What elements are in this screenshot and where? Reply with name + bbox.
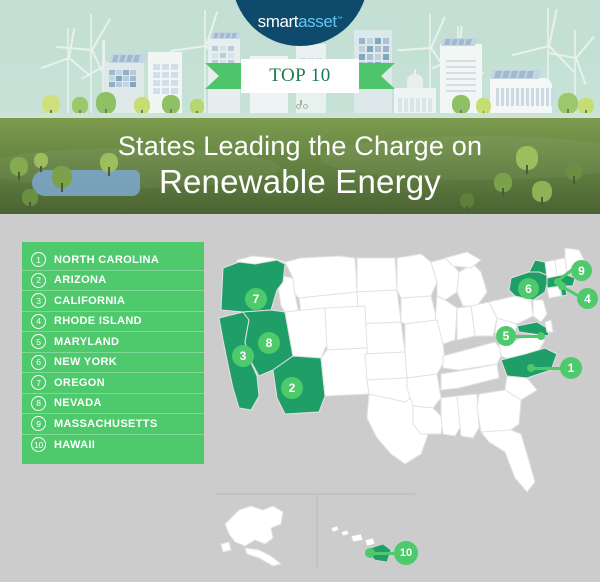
state-minnesota: [397, 254, 437, 298]
state-label: RHODE ISLAND: [54, 315, 142, 327]
logo-asset: asset: [298, 12, 337, 31]
us-map: 7 8 3 2 1 5 6 9: [215, 248, 600, 582]
rank-badge: 3: [31, 293, 46, 308]
title-line-2: Renewable Energy: [0, 163, 600, 201]
list-item[interactable]: 3 CALIFORNIA: [22, 291, 204, 312]
state-label: OREGON: [54, 377, 105, 389]
rank-badge: 9: [31, 416, 46, 431]
logo-wordmark: smartasset™: [232, 12, 368, 32]
infographic-page: smartasset™ TOP 10: [0, 0, 600, 582]
rank-badge: 5: [31, 334, 46, 349]
state-iowa: [401, 296, 437, 324]
solar-panel-icon: [441, 38, 477, 46]
marker-bubble: 5: [496, 326, 516, 346]
state-label: ARIZONA: [54, 274, 107, 286]
building: [490, 78, 552, 118]
marker-bubble: 6: [518, 278, 539, 299]
list-item[interactable]: 1 NORTH CAROLINA: [22, 250, 204, 271]
marker-bubble: 2: [281, 377, 303, 399]
state-label: NEVADA: [54, 397, 102, 409]
title-line-1: States Leading the Charge on: [0, 132, 600, 162]
state-label: HAWAII: [54, 439, 95, 451]
list-item[interactable]: 9 MASSACHUSETTS: [22, 414, 204, 435]
rank-badge: 4: [31, 314, 46, 329]
state-label: NORTH CAROLINA: [54, 254, 159, 266]
rank-badge: 1: [31, 252, 46, 267]
inset-hawaii: [331, 526, 391, 562]
capitol-building-icon: [394, 72, 436, 118]
state-label: MASSACHUSETTS: [54, 418, 158, 430]
state-kansas: [365, 352, 407, 380]
list-item[interactable]: 6 NEW YORK: [22, 353, 204, 374]
rank-badge: 6: [31, 355, 46, 370]
state-new-jersey: [533, 300, 547, 322]
marker-anchor-dot: [537, 332, 545, 340]
ribbon-label: TOP 10: [269, 65, 331, 87]
rank-badge: 2: [31, 273, 46, 288]
marker-bubble: 9: [571, 260, 592, 281]
state-missouri: [405, 320, 445, 378]
list-item[interactable]: 7 OREGON: [22, 373, 204, 394]
top10-ribbon: TOP 10: [205, 59, 395, 93]
state-michigan: [457, 264, 487, 306]
state-north-dakota: [357, 258, 397, 292]
title-band: States Leading the Charge on Renewable E…: [0, 118, 600, 214]
state-florida: [481, 430, 535, 492]
solar-panel-icon: [211, 32, 241, 39]
marker-bubble: 3: [232, 345, 254, 367]
marker-bubble: 1: [560, 357, 582, 379]
state-delaware: [545, 320, 553, 332]
state-georgia: [477, 390, 521, 434]
bicycle-icon: [296, 100, 308, 110]
state-alabama: [457, 394, 479, 438]
list-item[interactable]: 10 HAWAII: [22, 435, 204, 456]
marker-bubble: 10: [394, 541, 418, 565]
map-svg: [215, 248, 600, 582]
state-label: CALIFORNIA: [54, 295, 125, 307]
state-new-mexico: [321, 348, 369, 396]
logo-trademark: ™: [337, 16, 343, 22]
inset-alaska: [221, 506, 283, 566]
page-title: States Leading the Charge on Renewable E…: [0, 132, 600, 201]
solar-panel-icon: [491, 70, 542, 79]
state-montana: [285, 256, 357, 298]
list-item[interactable]: 4 RHODE ISLAND: [22, 312, 204, 333]
solar-panel-icon: [109, 54, 148, 63]
marker-bubble: 8: [258, 332, 280, 354]
state-louisiana: [413, 406, 443, 434]
list-item[interactable]: 8 NEVADA: [22, 394, 204, 415]
marker-leader-line: [531, 367, 563, 370]
rank-badge: 8: [31, 396, 46, 411]
logo-smart: smart: [258, 12, 299, 31]
state-arkansas: [407, 374, 441, 408]
ribbon-center: TOP 10: [241, 59, 359, 93]
list-item[interactable]: 5 MARYLAND: [22, 332, 204, 353]
list-item[interactable]: 2 ARIZONA: [22, 271, 204, 292]
ranking-list: 1 NORTH CAROLINA 2 ARIZONA 3 CALIFORNIA …: [22, 242, 204, 464]
state-label: NEW YORK: [54, 356, 117, 368]
marker-bubble: 7: [245, 288, 267, 310]
rank-badge: 7: [31, 375, 46, 390]
marker-bubble: 4: [577, 288, 598, 309]
state-label: MARYLAND: [54, 336, 119, 348]
rank-badge: 10: [31, 437, 46, 452]
state-colorado: [325, 306, 367, 350]
